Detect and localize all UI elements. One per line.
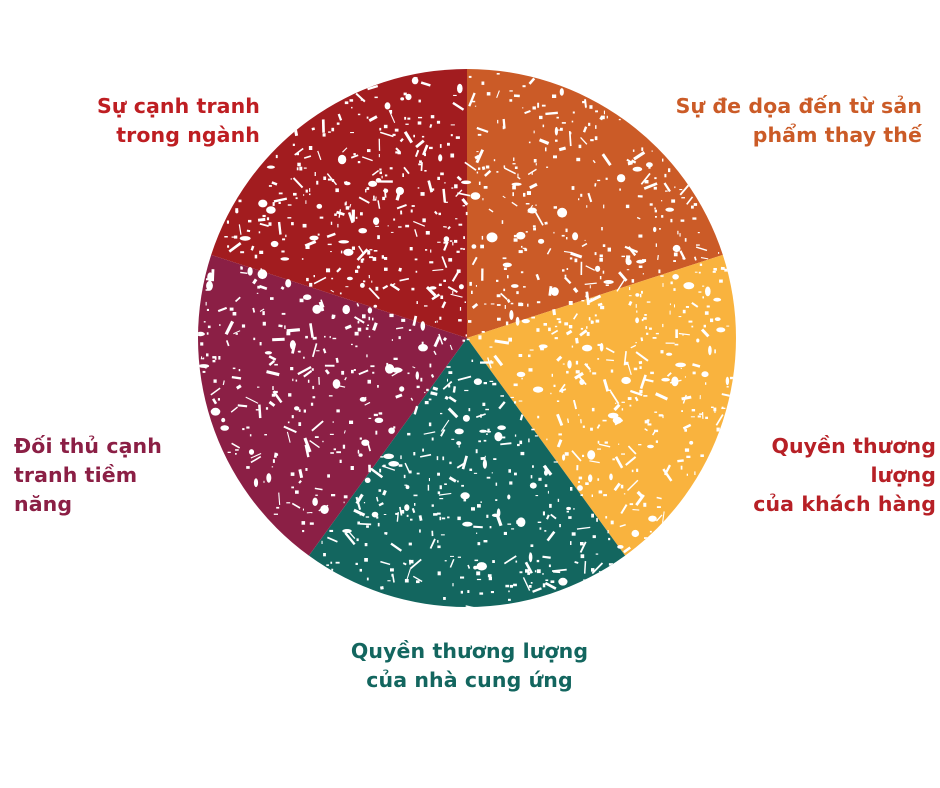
grain-speck [463, 236, 465, 239]
grain-speck [651, 519, 655, 520]
grain-speck [350, 99, 354, 102]
grain-speck [309, 236, 318, 241]
grain-speck [595, 314, 597, 316]
grain-speck [207, 332, 209, 334]
grain-speck [528, 439, 529, 443]
grain-speck [517, 444, 520, 446]
grain-speck [457, 481, 459, 483]
grain-speck [695, 272, 698, 273]
grain-speck [600, 276, 602, 279]
grain-speck [368, 380, 372, 384]
grain-speck [548, 328, 551, 332]
grain-speck [679, 316, 682, 317]
grain-speck [576, 465, 578, 470]
grain-speck [418, 187, 420, 188]
grain-speck [607, 116, 608, 119]
grain-speck [399, 464, 403, 467]
grain-speck [351, 107, 352, 109]
grain-speck [545, 484, 548, 487]
grain-speck [426, 231, 430, 235]
grain-speck [484, 440, 487, 442]
grain-speck [683, 310, 686, 314]
grain-speck [379, 154, 380, 157]
grain-speck [407, 515, 409, 517]
grain-speck [437, 242, 440, 243]
grain-speck [332, 179, 334, 182]
grain-speck [572, 121, 574, 123]
grain-speck [679, 189, 682, 190]
grain-speck [385, 102, 391, 109]
grain-speck [609, 563, 613, 565]
grain-speck [320, 505, 329, 514]
grain-speck [597, 180, 600, 181]
grain-speck [648, 165, 650, 169]
grain-speck [239, 369, 241, 371]
grain-speck [591, 320, 593, 324]
grain-speck [597, 449, 601, 450]
grain-speck [351, 344, 353, 345]
grain-speck [530, 350, 534, 351]
grain-speck [371, 184, 373, 185]
grain-speck [715, 317, 721, 321]
grain-speck [388, 461, 399, 467]
grain-speck [700, 395, 701, 399]
grain-speck [522, 107, 523, 108]
grain-speck [206, 278, 209, 280]
grain-speck [388, 225, 389, 226]
grain-speck [404, 504, 409, 511]
grain-speck [487, 477, 491, 479]
grain-speck [585, 482, 589, 485]
grain-speck [492, 514, 499, 517]
grain-speck [433, 513, 437, 516]
grain-speck [259, 231, 261, 233]
grain-speck [356, 563, 358, 565]
grain-speck [522, 235, 523, 238]
grain-speck [437, 321, 438, 323]
slice-label-entrants: Đối thủ cạnh tranh tiềm năng [14, 432, 199, 519]
grain-speck [472, 244, 477, 249]
grain-speck [621, 179, 622, 181]
grain-speck [374, 250, 378, 252]
grain-speck [605, 516, 607, 518]
grain-speck [455, 218, 457, 219]
grain-speck [507, 495, 510, 500]
grain-speck [505, 585, 509, 588]
grain-speck [713, 268, 717, 271]
grain-speck [686, 456, 690, 458]
grain-speck [504, 532, 507, 535]
grain-speck [488, 574, 492, 577]
grain-speck [469, 282, 472, 286]
grain-speck [437, 456, 439, 460]
grain-speck [508, 338, 512, 342]
grain-speck [508, 591, 509, 593]
grain-speck [201, 356, 202, 358]
grain-speck [611, 521, 614, 525]
grain-speck [388, 428, 395, 434]
grain-speck [461, 485, 464, 487]
grain-speck [590, 139, 594, 141]
grain-speck [296, 380, 298, 382]
grain-speck [490, 381, 494, 382]
grain-speck [504, 268, 507, 271]
grain-speck [444, 483, 447, 485]
grain-speck [331, 278, 333, 280]
grain-speck [290, 367, 293, 370]
grain-speck [543, 125, 545, 128]
grain-speck [536, 495, 539, 496]
grain-speck [475, 560, 479, 562]
grain-speck [337, 123, 340, 125]
grain-speck [467, 590, 469, 593]
grain-speck [390, 110, 392, 114]
grain-speck [670, 219, 672, 222]
grain-speck [617, 545, 623, 549]
grain-speck [325, 365, 335, 367]
grain-speck [282, 313, 286, 315]
grain-speck [570, 257, 572, 259]
grain-speck [324, 336, 326, 338]
grain-speck [345, 101, 349, 104]
grain-speck [591, 514, 594, 518]
grain-speck [274, 514, 278, 515]
grain-speck [554, 206, 557, 209]
grain-speck [280, 257, 289, 260]
grain-speck [383, 454, 394, 459]
grain-speck [483, 459, 487, 468]
grain-speck [266, 473, 271, 483]
grain-speck [463, 248, 465, 250]
grain-speck [451, 124, 455, 125]
grain-speck [242, 324, 245, 327]
grain-speck [531, 317, 535, 319]
grain-speck [291, 487, 294, 489]
grain-speck [668, 168, 670, 172]
grain-speck [293, 193, 297, 196]
grain-speck [279, 193, 283, 195]
grain-speck [588, 123, 590, 126]
grain-speck [633, 167, 643, 172]
grain-speck [596, 320, 600, 323]
grain-speck [395, 129, 399, 132]
grain-speck [532, 172, 533, 175]
grain-speck [657, 506, 661, 508]
grain-speck [239, 200, 242, 203]
grain-speck [330, 562, 332, 564]
grain-speck [597, 358, 599, 360]
grain-speck [332, 315, 336, 318]
grain-speck [250, 434, 252, 436]
grain-speck [476, 533, 477, 534]
grain-speck [328, 244, 332, 245]
grain-speck [357, 266, 360, 269]
grain-speck [539, 116, 543, 119]
grain-speck [343, 445, 345, 449]
grain-speck [444, 202, 448, 203]
grain-speck [588, 474, 592, 482]
grain-speck [336, 562, 340, 564]
grain-speck [634, 368, 637, 371]
grain-speck [395, 513, 398, 515]
grain-speck [608, 530, 609, 533]
grain-speck [358, 228, 367, 233]
grain-speck [409, 471, 412, 474]
grain-speck [257, 293, 259, 294]
grain-speck [472, 360, 474, 362]
grain-speck [438, 154, 442, 161]
grain-speck [605, 442, 608, 444]
grain-speck [519, 441, 522, 445]
grain-speck [531, 475, 533, 478]
grain-speck [581, 300, 584, 301]
grain-speck [373, 199, 377, 201]
grain-speck [537, 416, 539, 419]
grain-speck [476, 151, 478, 152]
grain-speck [570, 132, 571, 134]
grain-speck [608, 248, 611, 252]
grain-speck [203, 358, 204, 360]
grain-speck [609, 390, 611, 391]
grain-speck [509, 90, 512, 91]
grain-speck [692, 409, 695, 411]
grain-speck [516, 561, 518, 563]
grain-speck [503, 257, 507, 259]
grain-speck [581, 328, 583, 330]
grain-speck [582, 101, 586, 103]
grain-speck [415, 259, 418, 261]
grain-speck [314, 275, 316, 277]
grain-speck [252, 247, 254, 248]
grain-speck [477, 172, 478, 174]
grain-speck [471, 192, 481, 199]
grain-speck [666, 343, 675, 344]
grain-speck [482, 331, 485, 333]
grain-speck [682, 335, 683, 336]
grain-speck [572, 346, 573, 348]
grain-speck [598, 344, 602, 346]
grain-speck [685, 376, 686, 377]
grain-speck [603, 494, 607, 496]
grain-speck [390, 167, 393, 169]
grain-speck [514, 473, 517, 476]
grain-speck [558, 433, 562, 435]
grain-speck [316, 350, 319, 351]
grain-speck [587, 450, 595, 460]
grain-speck [347, 277, 353, 281]
grain-speck [424, 153, 426, 156]
grain-speck [303, 357, 305, 359]
grain-speck [469, 408, 471, 411]
grain-speck [494, 159, 495, 161]
grain-speck [424, 305, 428, 306]
grain-speck [362, 314, 366, 318]
grain-speck [333, 338, 337, 339]
grain-speck [322, 119, 325, 132]
grain-speck [431, 115, 435, 118]
grain-speck [654, 208, 656, 210]
grain-speck [276, 155, 278, 158]
grain-speck [650, 531, 652, 533]
grain-speck [384, 257, 387, 260]
grain-speck [585, 364, 588, 366]
grain-speck [248, 220, 251, 223]
grain-speck [681, 410, 683, 412]
grain-speck [670, 303, 671, 305]
grain-speck [447, 517, 449, 519]
grain-speck [718, 252, 719, 254]
grain-speck [265, 351, 272, 354]
grain-speck [306, 278, 309, 281]
grain-speck [344, 502, 345, 504]
grain-speck [508, 469, 511, 473]
grain-speck [477, 504, 481, 508]
grain-speck [641, 291, 643, 294]
grain-speck [648, 516, 657, 522]
grain-speck [206, 289, 210, 291]
grain-speck [233, 368, 236, 370]
grain-speck [485, 409, 489, 410]
grain-speck [505, 305, 506, 309]
grain-speck [437, 546, 440, 549]
grain-speck [478, 168, 480, 170]
grain-speck [665, 208, 674, 212]
grain-speck [506, 322, 508, 326]
grain-speck [373, 196, 375, 200]
grain-speck [451, 134, 453, 136]
grain-speck [630, 503, 634, 505]
grain-speck [442, 518, 445, 520]
grain-speck [318, 234, 320, 236]
grain-speck [412, 205, 415, 207]
grain-speck [329, 395, 333, 396]
grain-speck [306, 245, 310, 249]
grain-speck [597, 478, 599, 481]
grain-speck [221, 418, 225, 422]
grain-speck [638, 444, 641, 445]
grain-speck [511, 528, 514, 529]
grain-speck [647, 445, 654, 448]
grain-speck [382, 255, 384, 259]
grain-speck [372, 512, 379, 518]
grain-speck [535, 570, 536, 572]
grain-speck [342, 305, 350, 314]
grain-speck [701, 371, 708, 377]
grain-speck [661, 215, 663, 218]
grain-speck [580, 194, 582, 197]
grain-speck [272, 386, 273, 390]
grain-speck [235, 453, 237, 455]
grain-speck [567, 268, 569, 270]
grain-speck [495, 499, 497, 501]
grain-speck [621, 377, 631, 384]
grain-speck [448, 258, 452, 262]
grain-speck [543, 583, 546, 587]
grain-speck [467, 339, 470, 340]
grain-speck [299, 409, 301, 412]
grain-speck [530, 483, 537, 489]
grain-speck [494, 432, 502, 441]
grain-speck [464, 498, 467, 501]
grain-speck [514, 94, 520, 97]
grain-speck [511, 397, 514, 398]
grain-speck [392, 339, 393, 341]
grain-speck [598, 441, 600, 444]
grain-speck [430, 250, 431, 253]
grain-speck [486, 166, 489, 169]
grain-speck [721, 408, 725, 409]
grain-speck [534, 131, 535, 134]
grain-speck [627, 269, 629, 270]
grain-speck [385, 175, 387, 177]
grain-speck [365, 543, 368, 546]
grain-speck [424, 170, 426, 172]
grain-speck [589, 105, 592, 109]
grain-speck [366, 516, 369, 517]
grain-speck [303, 224, 307, 228]
grain-speck [369, 256, 373, 258]
grain-speck [373, 217, 379, 225]
grain-speck [375, 97, 378, 99]
grain-speck [482, 198, 483, 200]
grain-speck [235, 208, 238, 211]
grain-speck [440, 173, 444, 176]
grain-speck [262, 311, 264, 315]
grain-speck [582, 455, 584, 457]
grain-speck [583, 579, 587, 582]
grain-speck [302, 258, 304, 260]
grain-speck [603, 205, 604, 209]
grain-speck [546, 167, 548, 168]
grain-speck [583, 426, 585, 428]
grain-speck [302, 530, 304, 532]
grain-speck [497, 304, 501, 306]
grain-speck [366, 354, 367, 357]
grain-speck [492, 472, 493, 473]
grain-speck [303, 509, 304, 511]
grain-speck [663, 283, 664, 287]
grain-speck [484, 304, 486, 305]
grain-speck [710, 319, 713, 323]
grain-speck [486, 515, 488, 518]
grain-speck [600, 306, 604, 309]
grain-speck [352, 247, 355, 250]
grain-speck [475, 106, 476, 107]
grain-speck [705, 417, 708, 419]
grain-speck [469, 76, 472, 78]
grain-speck [233, 312, 237, 316]
grain-speck [384, 532, 387, 534]
grain-speck [259, 251, 263, 254]
grain-speck [629, 287, 630, 290]
grain-speck [596, 518, 598, 522]
grain-speck [497, 73, 500, 75]
grain-speck [391, 232, 394, 233]
grain-speck [680, 233, 681, 237]
grain-speck [466, 334, 467, 336]
grain-speck [267, 166, 275, 169]
grain-speck [639, 361, 643, 364]
grain-speck [674, 304, 675, 307]
grain-speck [489, 577, 492, 580]
grain-speck [521, 378, 522, 380]
grain-speck [417, 473, 420, 475]
grain-speck [425, 249, 427, 251]
grain-speck [532, 465, 534, 468]
grain-speck [565, 452, 569, 456]
grain-speck [643, 395, 647, 397]
grain-speck [266, 407, 268, 410]
